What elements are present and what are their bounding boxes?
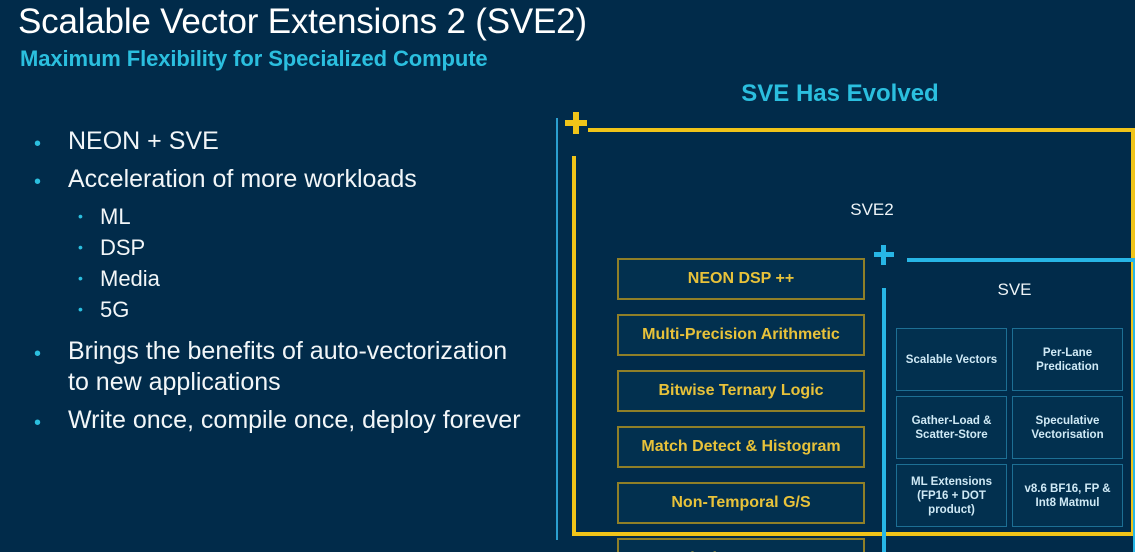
sve2-bracket-top-edge <box>588 128 1135 132</box>
list-item: • DSP <box>34 233 534 262</box>
list-item: • 5G <box>34 295 534 324</box>
sve-feature-cell[interactable]: v8.6 BF16, FP & Int8 Matmul <box>1012 464 1123 527</box>
plus-icon <box>874 245 894 265</box>
sve-feature-label: Per-Lane Predication <box>1015 346 1120 374</box>
feature-label: NEON DSP ++ <box>688 270 794 288</box>
sve2-bracket-left-edge <box>572 156 576 536</box>
sve-bracket-left-edge <box>882 288 886 552</box>
bullet-list: • NEON + SVE • Acceleration of more work… <box>34 126 534 443</box>
bullet-dot-icon: • <box>34 405 68 433</box>
page-subtitle: Maximum Flexibility for Specialized Comp… <box>20 46 488 72</box>
list-item: • Acceleration of more workloads <box>34 164 534 195</box>
sve2-label: SVE2 <box>772 200 972 220</box>
feature-label: Match Detect & Histogram <box>641 438 840 456</box>
sve-feature-grid: Scalable Vectors Per-Lane Predication Ga… <box>896 328 1124 527</box>
list-item: • NEON + SVE <box>34 126 534 157</box>
sve-bracket-top-edge <box>907 258 1135 262</box>
sve-feature-label: Scalable Vectors <box>906 353 997 367</box>
feature-box[interactable]: Bitwise Ternary Logic <box>617 370 865 412</box>
bullet-dot-icon: • <box>78 233 100 254</box>
bullet-dot-icon: • <box>34 164 68 192</box>
bullet-text: Acceleration of more workloads <box>68 164 417 195</box>
sve-evolution-diagram: SVE Has Evolved SVE2 NEON DSP ++ Multi-P… <box>545 70 1135 552</box>
feature-box[interactable]: Multi-Precision Arithmetic <box>617 314 865 356</box>
sve-feature-cell[interactable]: Speculative Vectorisation <box>1012 396 1123 459</box>
bullet-text: ML <box>100 202 131 231</box>
list-item: • Write once, compile once, deploy forev… <box>34 405 534 436</box>
bullet-text: Brings the benefits of auto-vectorizatio… <box>68 336 534 398</box>
bullet-text: 5G <box>100 295 129 324</box>
plus-icon <box>565 112 587 134</box>
sve-feature-cell[interactable]: ML Extensions (FP16 + DOT product) <box>896 464 1007 527</box>
sve2-bracket: SVE2 NEON DSP ++ Multi-Precision Arithme… <box>572 128 1135 536</box>
bullet-text: NEON + SVE <box>68 126 219 157</box>
sve-feature-label: Gather-Load & Scatter-Store <box>899 414 1004 442</box>
list-item: • ML <box>34 202 534 231</box>
sve-feature-cell[interactable]: Gather-Load & Scatter-Store <box>896 396 1007 459</box>
bullet-dot-icon: • <box>78 295 100 316</box>
sve2-feature-list: NEON DSP ++ Multi-Precision Arithmetic B… <box>617 258 865 552</box>
feature-box[interactable]: Non-Temporal G/S <box>617 482 865 524</box>
bullet-text: Write once, compile once, deploy forever <box>68 405 521 436</box>
feature-box[interactable]: NEON DSP ++ <box>617 258 865 300</box>
slide: Scalable Vector Extensions 2 (SVE2) Maxi… <box>0 0 1135 552</box>
sve-label: SVE <box>907 280 1122 300</box>
sve-feature-label: v8.6 BF16, FP & Int8 Matmul <box>1015 482 1120 510</box>
page-title: Scalable Vector Extensions 2 (SVE2) <box>18 2 587 42</box>
feature-box[interactable]: Bitwise Permute <box>617 538 865 552</box>
sve-bracket: SVE Scalable Vectors Per-Lane Predicatio… <box>882 258 1135 552</box>
bullet-dot-icon: • <box>78 202 100 223</box>
bullet-dot-icon: • <box>34 126 68 154</box>
bullet-text: Media <box>100 264 160 293</box>
bullet-dot-icon: • <box>78 264 100 285</box>
sve-feature-cell[interactable]: Per-Lane Predication <box>1012 328 1123 391</box>
sve-feature-label: ML Extensions (FP16 + DOT product) <box>899 475 1004 517</box>
feature-box[interactable]: Match Detect & Histogram <box>617 426 865 468</box>
list-item: • Brings the benefits of auto-vectorizat… <box>34 336 534 398</box>
bullet-text: DSP <box>100 233 145 262</box>
feature-label: Non-Temporal G/S <box>671 494 810 512</box>
feature-label: Multi-Precision Arithmetic <box>642 326 840 344</box>
sve-feature-cell[interactable]: Scalable Vectors <box>896 328 1007 391</box>
sve-feature-label: Speculative Vectorisation <box>1015 414 1120 442</box>
list-item: • Media <box>34 264 534 293</box>
left-accent-divider <box>556 118 558 540</box>
bullet-dot-icon: • <box>34 336 68 364</box>
diagram-title: SVE Has Evolved <box>545 80 1135 108</box>
feature-label: Bitwise Ternary Logic <box>658 382 823 400</box>
